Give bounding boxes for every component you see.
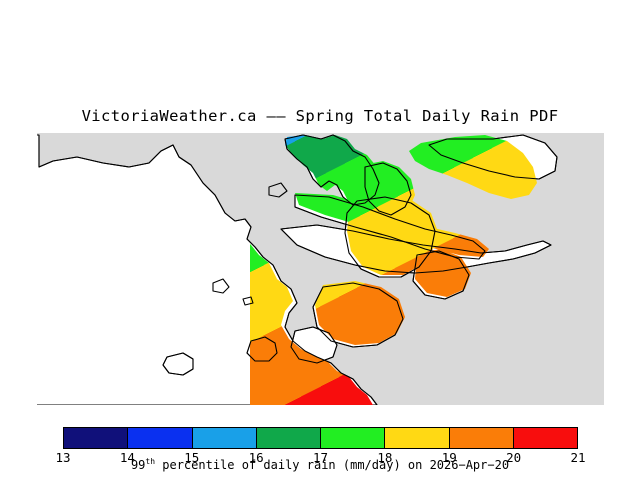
colorbar-band-17-18[interactable]	[321, 428, 385, 448]
map-panel[interactable]	[37, 133, 604, 405]
map-canvas[interactable]	[37, 133, 604, 405]
colorbar-band-19-20[interactable]	[450, 428, 514, 448]
colorbar-bands[interactable]	[63, 427, 578, 449]
colorbar-band-13-14[interactable]	[64, 428, 128, 448]
page-title: VictoriaWeather.ca —— Spring Total Daily…	[0, 107, 640, 125]
caption-superscript: th	[145, 457, 155, 466]
caption-prefix: 99	[131, 458, 145, 472]
colorbar-band-16-17[interactable]	[257, 428, 321, 448]
colorbar-band-20-21[interactable]	[514, 428, 577, 448]
colorbar-band-14-15[interactable]	[128, 428, 192, 448]
colorbar-caption: 99th percentile of daily rain (mm/day) o…	[0, 458, 640, 472]
colorbar-band-18-19[interactable]	[385, 428, 449, 448]
colorbar-band-15-16[interactable]	[193, 428, 257, 448]
caption-suffix: percentile of daily rain (mm/day) on 202…	[155, 458, 509, 472]
